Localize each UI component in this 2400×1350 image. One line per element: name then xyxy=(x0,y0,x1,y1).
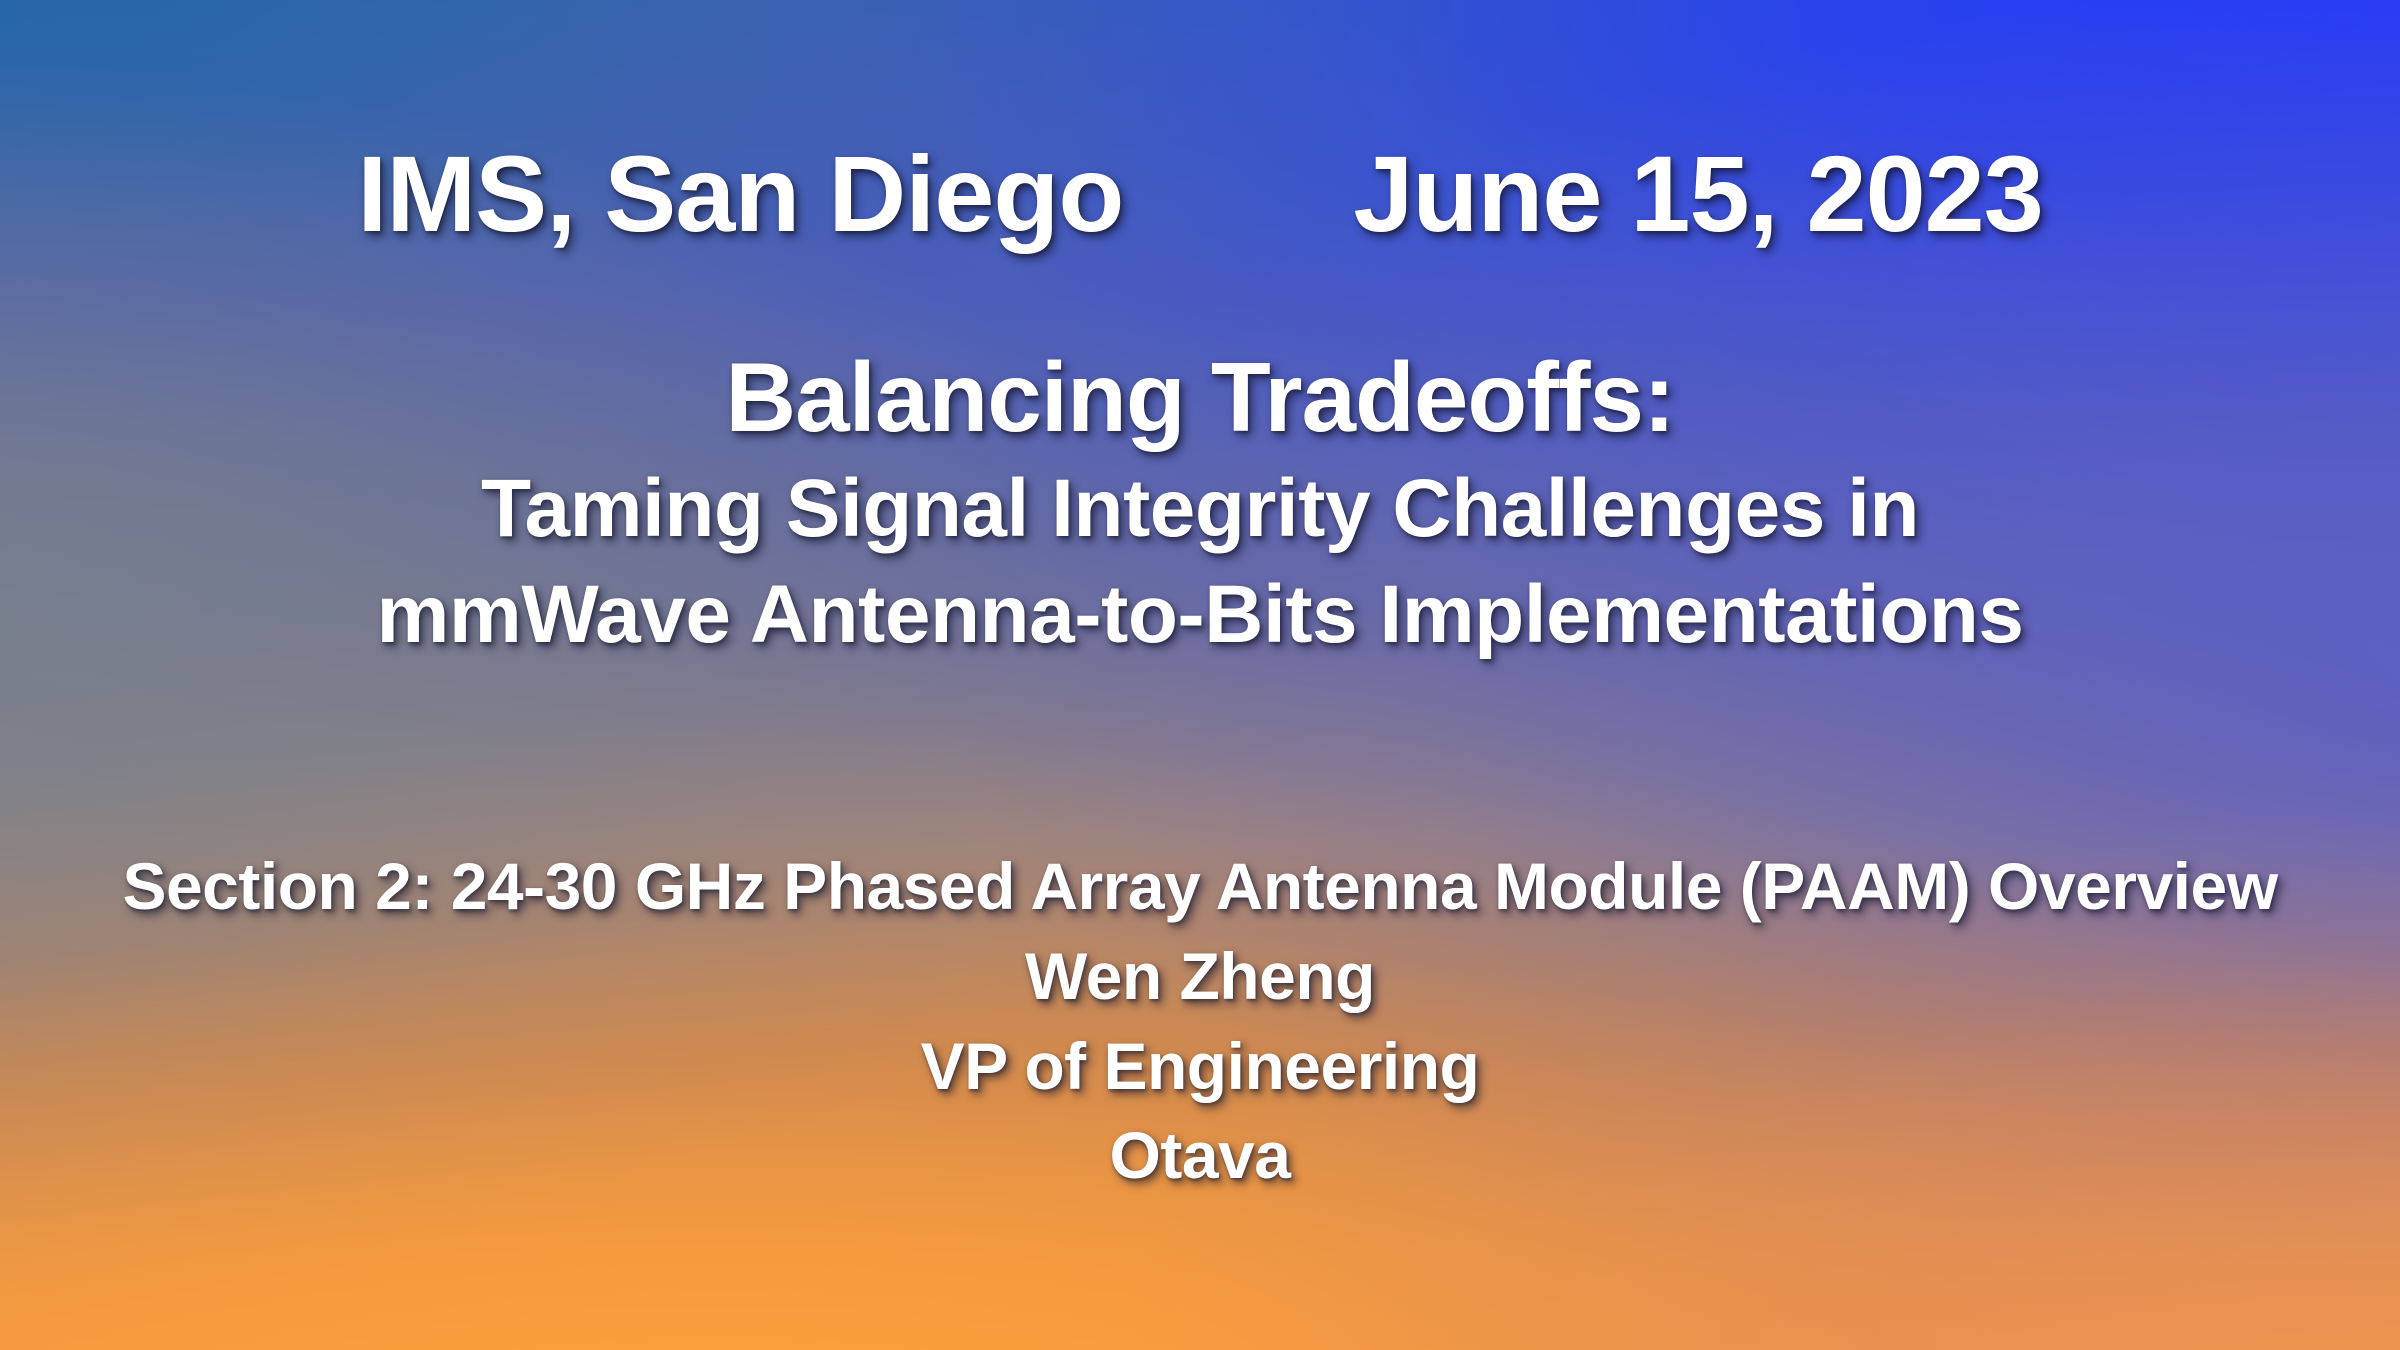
presentation-main-title: Balancing Tradeoffs: xyxy=(0,340,2400,456)
presenter-company: Otava xyxy=(0,1111,2400,1201)
event-name: IMS, San Diego xyxy=(357,140,1123,248)
title-slide: IMS, San Diego June 15, 2023 Balancing T… xyxy=(0,0,2400,1350)
slide-content: IMS, San Diego June 15, 2023 Balancing T… xyxy=(0,0,2400,1350)
presentation-subtitle-line-1: Taming Signal Integrity Challenges in xyxy=(0,456,2400,563)
header-row: IMS, San Diego June 15, 2023 xyxy=(0,140,2400,248)
presenter-role: VP of Engineering xyxy=(0,1022,2400,1112)
presenter-block: Section 2: 24-30 GHz Phased Array Antenn… xyxy=(0,842,2400,1201)
section-title: Section 2: 24-30 GHz Phased Array Antenn… xyxy=(0,842,2400,932)
presentation-subtitle-line-2: mmWave Antenna-to-Bits Implementations xyxy=(0,562,2400,669)
title-block: Balancing Tradeoffs: Taming Signal Integ… xyxy=(0,340,2400,669)
event-date: June 15, 2023 xyxy=(1353,140,2042,248)
presenter-name: Wen Zheng xyxy=(0,932,2400,1022)
